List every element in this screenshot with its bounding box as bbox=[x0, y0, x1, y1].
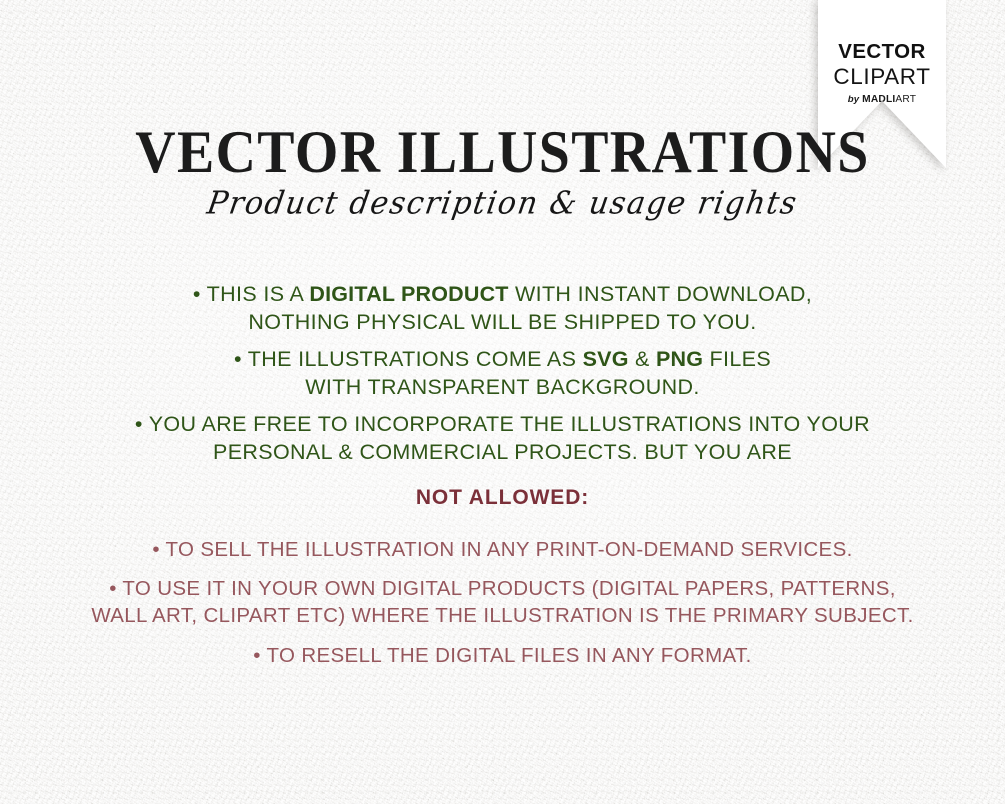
restriction-item-digital-products: • TO USE IT IN YOUR OWN DIGITAL PRODUCTS… bbox=[0, 576, 1005, 629]
info-text-prefix: • THIS IS A bbox=[193, 282, 310, 306]
info-item-usage-rights: • YOU ARE FREE TO INCORPORATE THE ILLUST… bbox=[0, 411, 1005, 467]
info-text-emphasis-svg: SVG bbox=[583, 347, 629, 371]
restriction-item-resell-files: • TO RESELL THE DIGITAL FILES IN ANY FOR… bbox=[0, 643, 1005, 670]
info-text-separator: & bbox=[629, 347, 656, 371]
info-item-digital-product: • THIS IS A DIGITAL PRODUCT WITH INSTANT… bbox=[0, 281, 1005, 337]
info-item-file-formats: • THE ILLUSTRATIONS COME AS SVG & PNG FI… bbox=[0, 346, 1005, 402]
info-text-emphasis: DIGITAL PRODUCT bbox=[309, 282, 508, 306]
restriction-item-print-on-demand: • TO SELL THE ILLUSTRATION IN ANY PRINT-… bbox=[0, 537, 1005, 564]
not-allowed-heading: NOT ALLOWED: bbox=[0, 486, 1005, 510]
info-text-prefix: • THE ILLUSTRATIONS COME AS bbox=[234, 347, 583, 371]
info-text-emphasis-png: PNG bbox=[656, 347, 703, 371]
content-area: VECTOR ILLUSTRATIONS Product description… bbox=[0, 0, 1005, 804]
product-info-page: VECTOR CLIPART by MADLIART VECTOR ILLUST… bbox=[0, 0, 1005, 804]
page-subtitle: Product description & usage rights bbox=[0, 185, 1005, 222]
page-title: VECTOR ILLUSTRATIONS bbox=[35, 122, 970, 183]
